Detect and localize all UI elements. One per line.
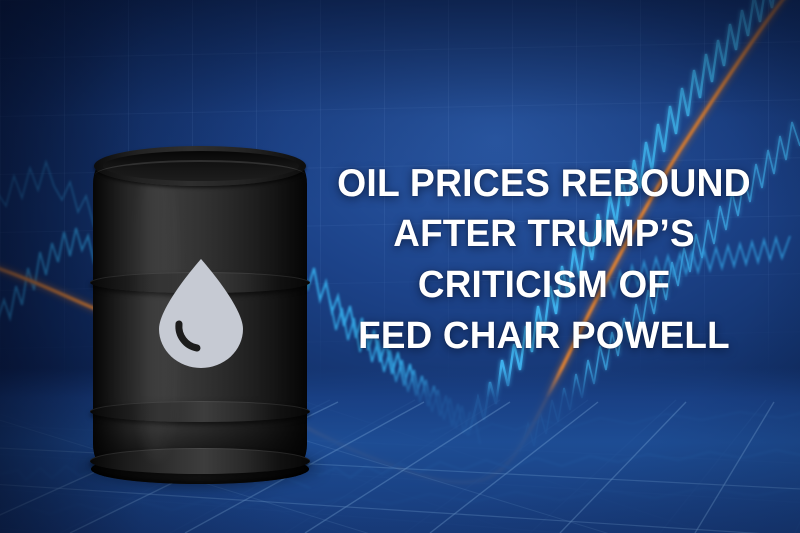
barrel-rib-middle	[90, 401, 310, 422]
headline-line-2: AFTER TRUMP’S	[327, 209, 762, 260]
headline-line-1: OIL PRICES REBOUND	[327, 158, 762, 209]
barrel-rib-bottom	[90, 448, 310, 474]
headline-line-4: FED CHAIR POWELL	[327, 311, 762, 362]
headline-line-3: CRITICISM OF	[327, 260, 762, 311]
news-banner-canvas: OIL PRICES REBOUND AFTER TRUMP’S CRITICI…	[0, 0, 800, 533]
oil-barrel	[93, 148, 307, 478]
barrel-lid-rim-highlight	[95, 160, 305, 190]
headline-block: OIL PRICES REBOUND AFTER TRUMP’S CRITICI…	[320, 158, 768, 362]
oil-drop-icon	[155, 256, 247, 368]
